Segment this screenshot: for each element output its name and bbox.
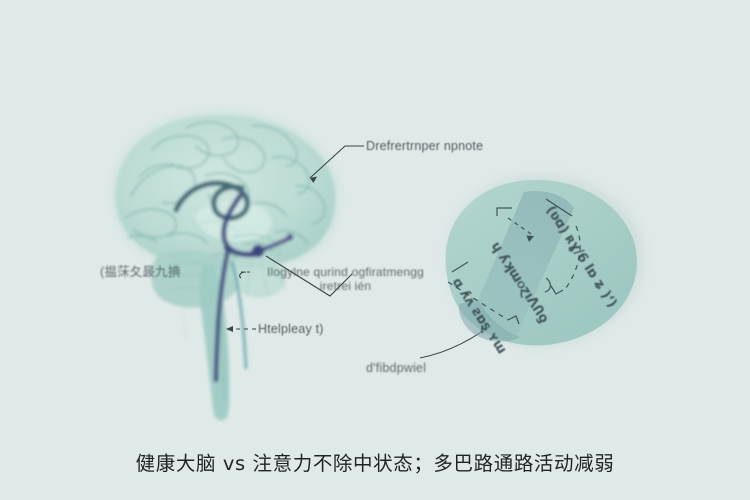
brain-diagram-svg xyxy=(0,0,750,500)
label-inset-callout: d'fibdpwiel xyxy=(366,361,426,375)
illustration-canvas: Drefrertrnper npnote Ilogylne qurind ogf… xyxy=(0,0,750,500)
label-prefrontal-cortex: Drefrertrnper npnote xyxy=(366,139,483,153)
label-nigrostriatal-pathway: Ilogylne qurind ogfiratmengg iretrei ién xyxy=(253,265,438,293)
label-midbrain: Htelpleay t) xyxy=(258,322,324,336)
pathway-node xyxy=(252,245,264,257)
pathway-terminal-dot xyxy=(287,234,294,241)
label-cerebellum: (揾莯夂晸九捵 xyxy=(100,261,181,280)
figure-caption: 健康大脑 vs 注意力不除中状态；多巴路通路活动减弱 xyxy=(0,447,750,476)
